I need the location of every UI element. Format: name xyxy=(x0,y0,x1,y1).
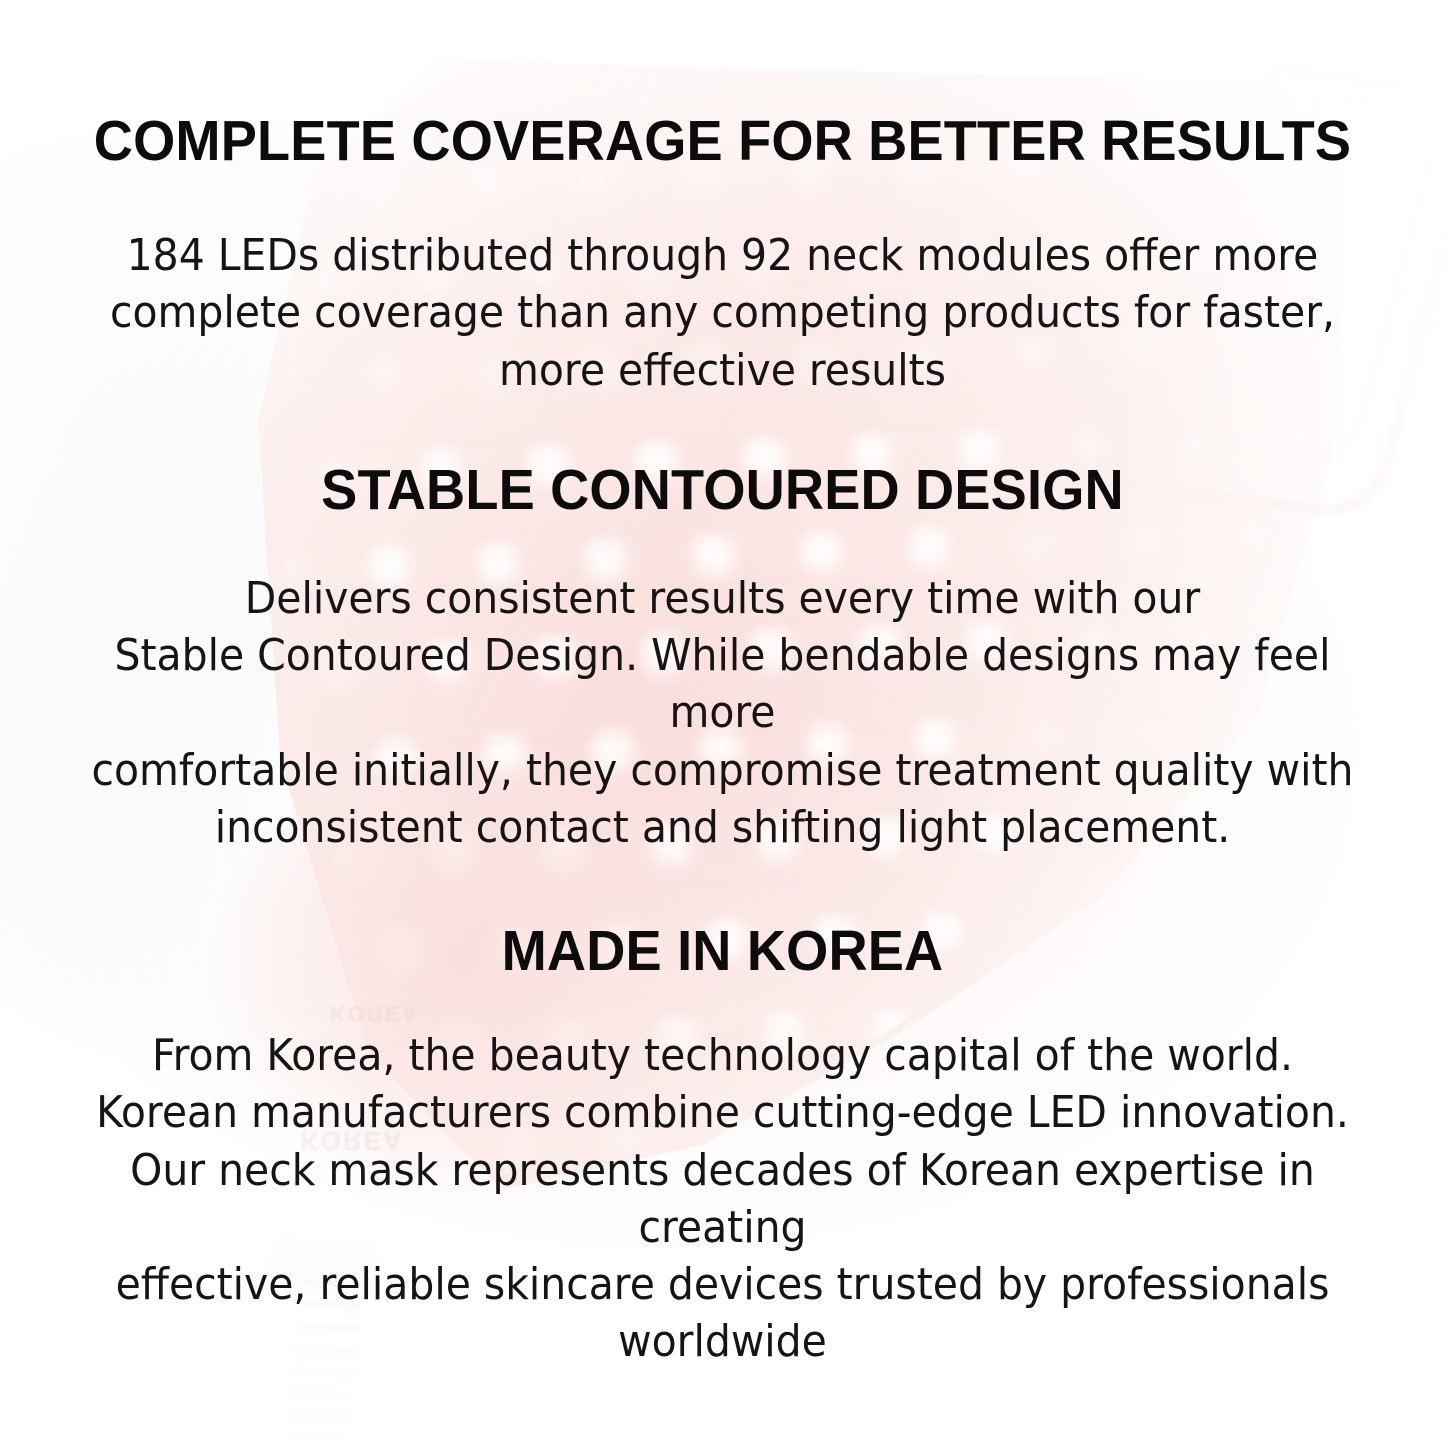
marketing-copy-stack: COMPLETE COVERAGE FOR BETTER RESULTS 184… xyxy=(0,0,1445,1445)
section-heading-complete-coverage: COMPLETE COVERAGE FOR BETTER RESULTS xyxy=(72,112,1373,171)
section-body-complete-coverage: 184 LEDs distributed through 92 neck mod… xyxy=(86,227,1359,399)
section-body-stable-contoured-design: Delivers consistent results every time w… xyxy=(86,570,1359,856)
product-infographic-page: KOREA KOREA COMPLETE COVERAGE FOR BETTER… xyxy=(0,0,1445,1445)
section-heading-made-in-korea: MADE IN KOREA xyxy=(72,922,1373,981)
section-body-made-in-korea: From Korea, the beauty technology capita… xyxy=(86,1027,1359,1370)
section-heading-stable-contoured-design: STABLE CONTOURED DESIGN xyxy=(72,461,1373,520)
